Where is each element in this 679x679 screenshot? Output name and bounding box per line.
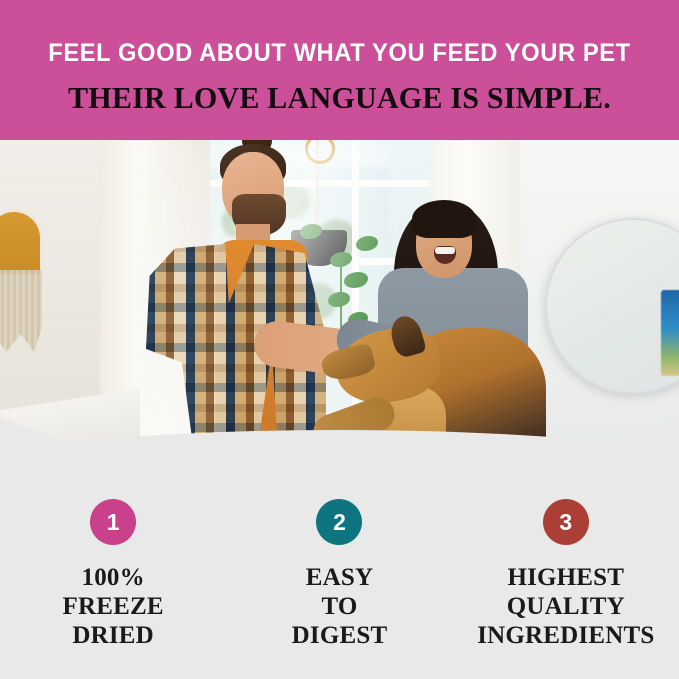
feature-item-3: 3 HIGHEST QUALITY INGREDIENTS (453, 470, 679, 679)
woman-hair-top (412, 200, 476, 238)
feature-badge-2: 2 (316, 499, 362, 545)
banner-headline: FEEL GOOD ABOUT WHAT YOU FEED YOUR PET (17, 39, 662, 68)
top-banner: FEEL GOOD ABOUT WHAT YOU FEED YOUR PET T… (0, 0, 679, 140)
feature-badge-3: 3 (543, 499, 589, 545)
feature-label-line: DRIED (63, 621, 164, 650)
feature-label-line: INGREDIENTS (477, 621, 654, 650)
feature-item-2: 2 EASY TO DIGEST (226, 470, 452, 679)
feature-badge-1: 1 (90, 499, 136, 545)
lifestyle-photo (0, 140, 679, 472)
feature-label-2: EASY TO DIGEST (292, 563, 388, 650)
feature-label-line: DIGEST (292, 621, 388, 650)
feature-label-3: HIGHEST QUALITY INGREDIENTS (477, 563, 654, 650)
feature-item-1: 1 100% FREEZE DRIED (0, 470, 226, 679)
features-row: 1 100% FREEZE DRIED 2 EASY TO DIGEST 3 H… (0, 470, 679, 679)
woman-teeth (435, 247, 455, 254)
arch-wall-art (0, 212, 40, 274)
photo-scene (0, 140, 679, 472)
promo-banner-page: FEEL GOOD ABOUT WHAT YOU FEED YOUR PET T… (0, 0, 679, 679)
feature-label-line: HIGHEST (477, 563, 654, 592)
feature-label-line: EASY (292, 563, 388, 592)
feature-label-line: TO (292, 592, 388, 621)
feature-label-1: 100% FREEZE DRIED (63, 563, 164, 650)
mirror-reflection (661, 290, 679, 376)
feature-label-line: 100% (63, 563, 164, 592)
feature-label-line: QUALITY (477, 592, 654, 621)
feature-label-line: FREEZE (63, 592, 164, 621)
banner-subhead: THEIR LOVE LANGUAGE IS SIMPLE. (10, 80, 669, 116)
